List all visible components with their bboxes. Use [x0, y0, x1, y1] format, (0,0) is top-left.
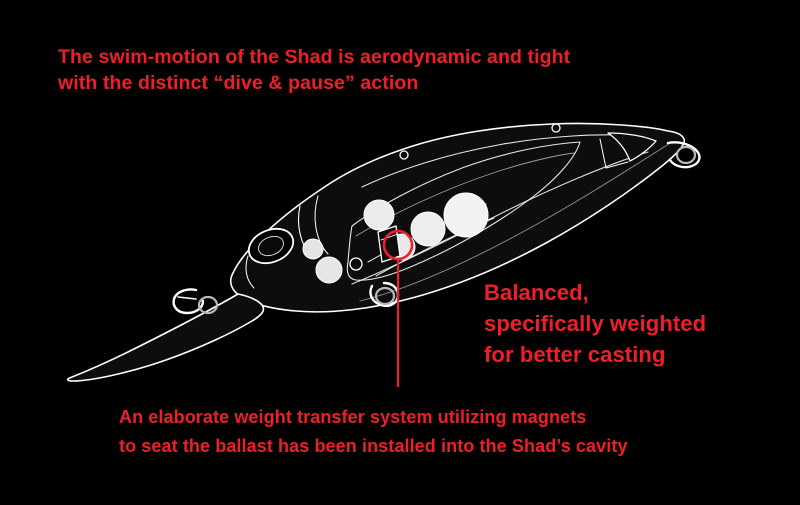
callout-right-text: Balanced, specifically weighted for bett… — [484, 277, 706, 371]
lure-lip-blade — [68, 294, 264, 381]
diagram-page: The swim-motion of the Shad is aerodynam… — [0, 0, 800, 505]
callout-top-text: The swim-motion of the Shad is aerodynam… — [58, 44, 570, 97]
callout-bottom-text: An elaborate weight transfer system util… — [119, 403, 628, 461]
